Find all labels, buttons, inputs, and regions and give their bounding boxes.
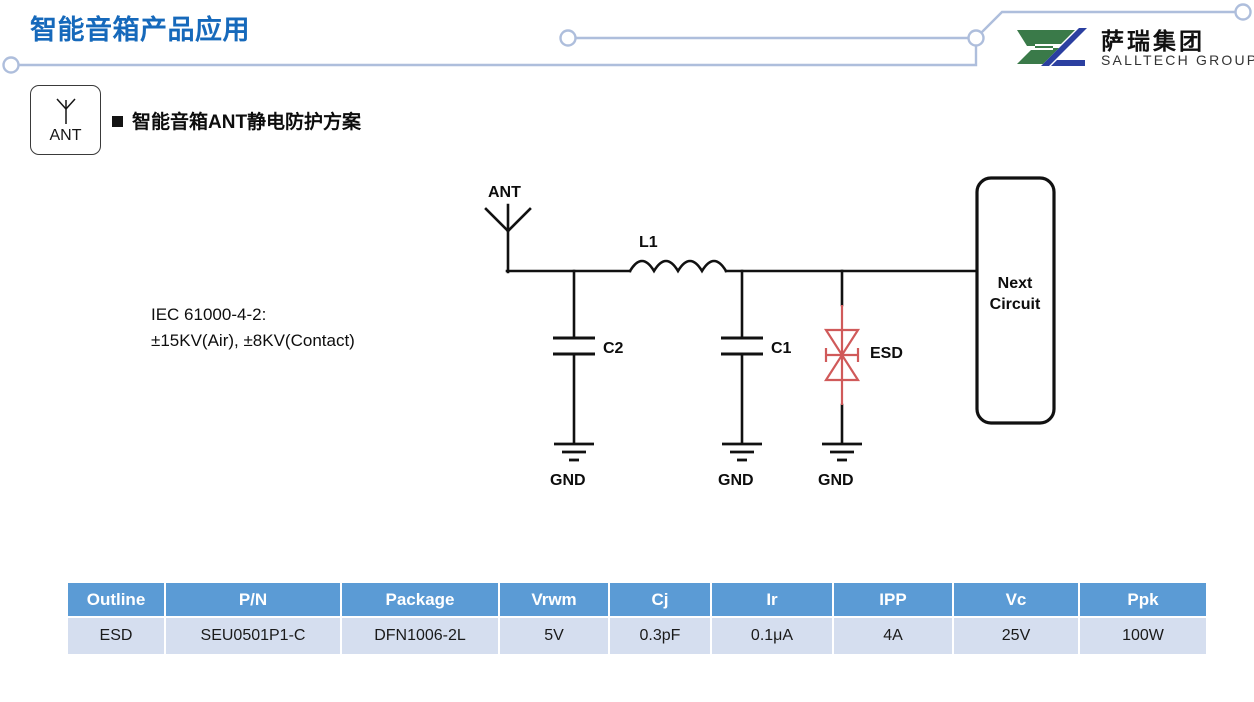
table-col-ppk: Ppk [1080,583,1206,618]
cell-outline: ESD [68,618,166,654]
antenna-icon [48,92,84,128]
section-subtitle: 智能音箱ANT静电防护方案 [112,107,361,134]
trace-node-left [4,58,19,73]
schematic-gnd-label-esd: GND [818,472,854,489]
trace-node-mid [561,31,576,46]
esd-diode-symbol [826,305,858,405]
esd-protection-schematic: ANT L1 C2 C1 ESD GND GND GND Next Circui… [460,165,1100,505]
schematic-esd-label: ESD [870,345,903,362]
cell-ir: 0.1μA [712,618,834,654]
ant-badge: ANT [30,85,101,155]
trace-node-junction [969,31,984,46]
next-circuit-label-line1: Next [998,275,1033,292]
table-col-package: Package [342,583,500,618]
ground-symbols [554,444,862,460]
table-col-ipp: IPP [834,583,954,618]
table-col-vc: Vc [954,583,1080,618]
page-title: 智能音箱产品应用 [30,8,250,47]
section-subtitle-text: 智能音箱ANT静电防护方案 [132,112,361,133]
schematic-gnd-label-c2: GND [550,472,586,489]
bullet-square-icon [112,116,123,127]
table-col-cj: Cj [610,583,712,618]
schematic-cap2-label: C2 [603,340,624,357]
ant-badge-label: ANT [31,127,100,145]
table-col-vrwm: Vrwm [500,583,610,618]
table-col-pn: P/N [166,583,342,618]
table-row: ESD SEU0501P1-C DFN1006-2L 5V 0.3pF 0.1μ… [68,618,1206,654]
trace-node-right [1236,5,1251,20]
iec-note-line2: ±15KV(Air), ±8KV(Contact) [151,328,355,354]
logo-name-en: SALLTECH GROUP [1101,52,1254,68]
schematic-cap1-label: C1 [771,340,792,357]
logo-name-cn: 萨瑞集团 [1101,22,1205,56]
iec-standard-note: IEC 61000-4-2: ±15KV(Air), ±8KV(Contact) [151,302,355,354]
iec-note-line1: IEC 61000-4-2: [151,302,355,328]
table-col-outline: Outline [68,583,166,618]
capacitor-c2-symbol [553,338,595,354]
company-logo: 萨瑞集团 SALLTECH GROUP [1013,20,1243,76]
cell-cj: 0.3pF [610,618,712,654]
salltech-logo-mark [1013,22,1091,72]
spec-table: Outline P/N Package Vrwm Cj Ir IPP Vc Pp… [68,583,1206,654]
cell-ipp: 4A [834,618,954,654]
cell-vrwm: 5V [500,618,610,654]
schematic-inductor-label: L1 [639,234,658,251]
table-col-ir: Ir [712,583,834,618]
cell-package: DFN1006-2L [342,618,500,654]
table-header-row: Outline P/N Package Vrwm Cj Ir IPP Vc Pp… [68,583,1206,618]
schematic-gnd-label-c1: GND [718,472,754,489]
next-circuit-label-line2: Circuit [990,296,1041,313]
slide-canvas: 智能音箱产品应用 萨瑞集团 SALLTECH GROUP ANT 智能音箱ANT… [0,0,1254,702]
capacitor-c1-symbol [721,338,763,354]
schematic-antenna-label: ANT [488,184,521,201]
cell-vc: 25V [954,618,1080,654]
cell-ppk: 100W [1080,618,1206,654]
cell-pn: SEU0501P1-C [166,618,342,654]
